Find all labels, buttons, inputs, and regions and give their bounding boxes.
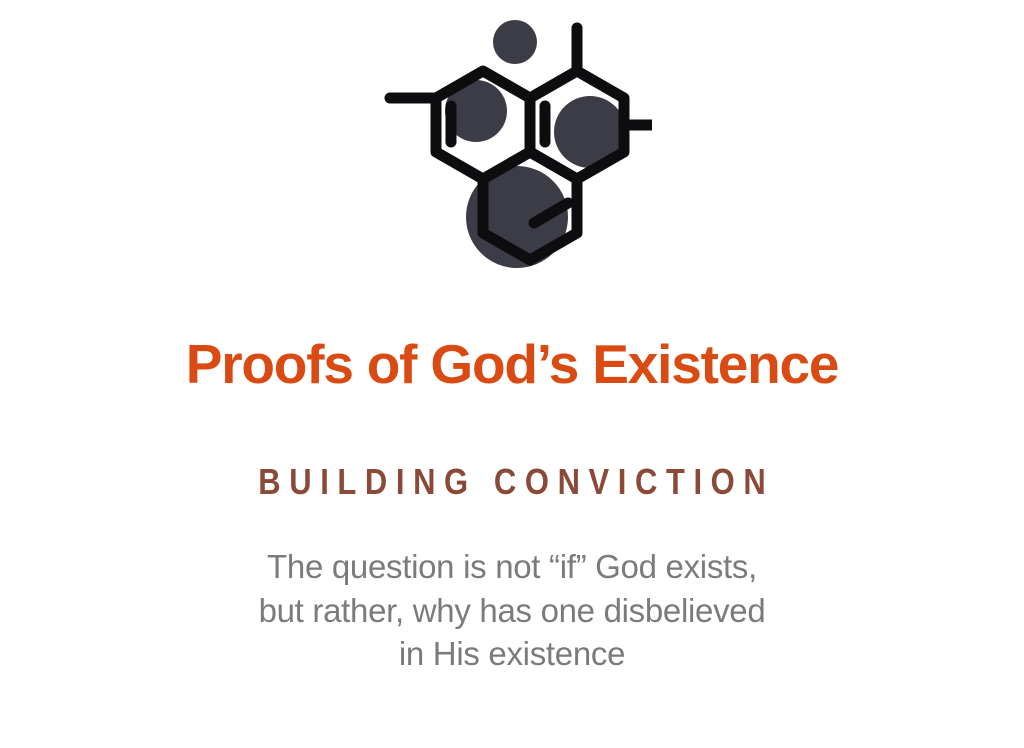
body-line: but rather, why has one disbelieved (132, 589, 892, 633)
body-line: in His existence (132, 632, 892, 676)
slide-subtitle: BUILDING CONVICTION (72, 462, 953, 502)
slide-title: Proofs of God’s Existence (0, 336, 1024, 394)
molecule-icon-container (362, 14, 662, 294)
molecule-icon (372, 14, 652, 292)
slide-body-text: The question is not “if” God exists, but… (132, 545, 892, 676)
presentation-slide: Proofs of God’s Existence BUILDING CONVI… (0, 0, 1024, 748)
body-line: The question is not “if” God exists, (132, 545, 892, 589)
